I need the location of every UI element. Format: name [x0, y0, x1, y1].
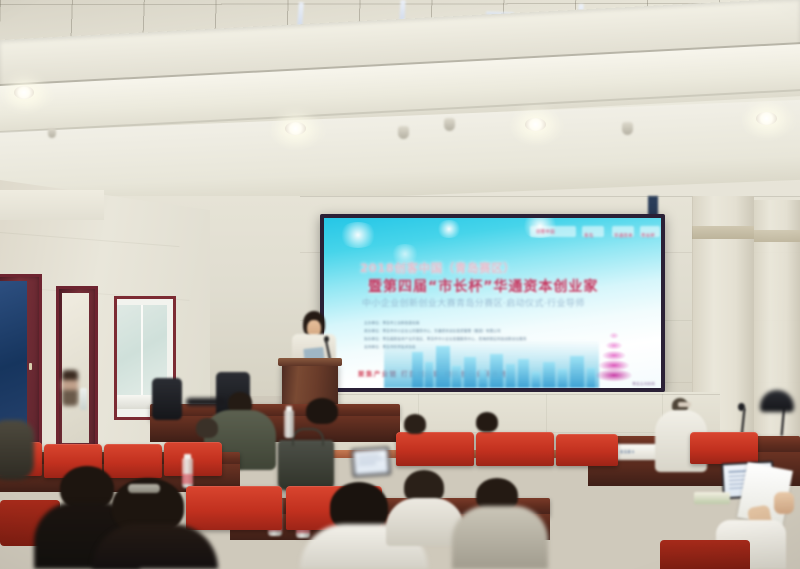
chair-armrest [186, 398, 226, 406]
sponsor-logo-4-label: 市长杯 [641, 233, 655, 239]
downlight [756, 112, 777, 125]
handbag [278, 440, 334, 490]
person-in-doorway [62, 370, 78, 406]
name-plate-text: 姓名席卡 [614, 444, 658, 454]
audience-seat [396, 432, 474, 466]
pilaster-band [754, 230, 800, 242]
attendee-hand [774, 492, 794, 514]
ceiling-camera-icon [622, 122, 633, 135]
bottle [80, 388, 87, 410]
downlight [525, 118, 546, 131]
audience-seat [186, 486, 282, 530]
led-display-screen: 创客中国 青岛 华通资本 市长杯 2018创客中国（青岛赛区） 暨第四届“市长杯… [320, 214, 665, 392]
handbag-handle [292, 428, 324, 446]
eyeglasses-icon [678, 402, 691, 407]
audience-seat [104, 444, 162, 478]
attendee-head [404, 414, 426, 434]
ceiling-camera-icon [444, 118, 455, 131]
ceiling-camera-icon [48, 128, 56, 138]
screen-swirl-label: 青岛五月的风 [632, 382, 655, 387]
conference-hall-photo: 创客中国 青岛 华通资本 市长杯 2018创客中国（青岛赛区） 暨第四届“市长杯… [0, 0, 800, 569]
water-bottle [284, 410, 294, 438]
water-bottle [182, 458, 193, 488]
attendee-torso [0, 420, 34, 480]
audience-seat [476, 432, 554, 466]
screen-wind-sculpture-graphic [583, 322, 645, 384]
sponsor-logo-1-label: 创客中国 [536, 229, 555, 235]
screen-title-line-1: 2018创客中国（青岛赛区） [360, 260, 515, 276]
attendee-shoulder [452, 506, 548, 569]
downlight [14, 86, 34, 99]
audience-seat [660, 540, 750, 569]
attendee-head [476, 412, 498, 432]
downlight [285, 122, 306, 135]
left-wall-upper [0, 190, 104, 220]
ceiling [0, 0, 800, 210]
screen-fine-print-0: 主办单位：青岛市工业和信息化局 [364, 321, 419, 326]
attendee-shoulder [92, 524, 218, 569]
podium-microphone-head [324, 336, 329, 342]
notebook [694, 492, 730, 504]
screen-title-line-2: 暨第四届“市长杯”华通资本创业家 [368, 276, 598, 296]
podium-top [278, 358, 342, 366]
screen-skyline-graphic [384, 340, 599, 388]
sponsor-logo-3-label: 华通资本 [614, 233, 633, 239]
ceiling-camera-icon [398, 126, 409, 139]
name-plate: 姓名席卡 [614, 444, 658, 460]
sponsor-logo-2-label: 青岛 [584, 233, 593, 239]
laptop [351, 447, 391, 478]
audience-seat [690, 432, 758, 464]
attendee-head [306, 398, 338, 424]
audience-seat [164, 442, 222, 476]
screen-fine-print-1: 承办单位：青岛市中小企业公共服务中心、华通资本创业投资管理（集团）有限公司 [364, 329, 501, 334]
pilaster-band [692, 226, 754, 239]
desk-microphone-head [738, 403, 745, 411]
hair-clip [128, 484, 160, 493]
office-chair [152, 378, 182, 420]
led-screen-content: 创客中国 青岛 华通资本 市长杯 2018创客中国（青岛赛区） 暨第四届“市长杯… [324, 218, 661, 388]
audience-seat [556, 434, 618, 466]
screen-title-line-3: 中小企业创新创业大赛青岛分赛区·启动仪式·行业导师 [362, 296, 585, 309]
attendee-head [196, 418, 218, 438]
